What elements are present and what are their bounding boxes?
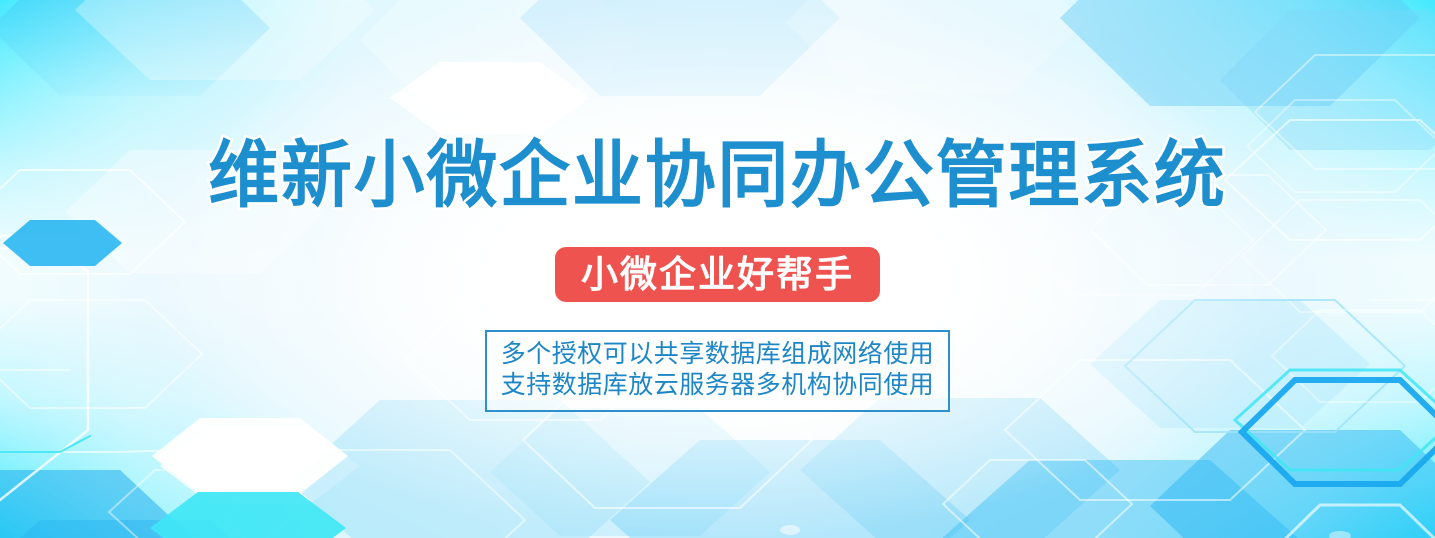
- slogan-badge: 小微企业好帮手: [555, 247, 880, 302]
- feature-line-1: 多个授权可以共享数据库组成网络使用: [501, 339, 935, 370]
- slogan-badge-container: 小微企业好帮手: [0, 247, 1435, 302]
- banner-content: 维新小微企业协同办公管理系统 小微企业好帮手 多个授权可以共享数据库组成网络使用…: [0, 0, 1435, 538]
- feature-box-container: 多个授权可以共享数据库组成网络使用 支持数据库放云服务器多机构协同使用: [0, 330, 1435, 412]
- page-title: 维新小微企业协同办公管理系统: [22, 138, 1414, 214]
- feature-line-2: 支持数据库放云服务器多机构协同使用: [501, 370, 935, 401]
- feature-description-box: 多个授权可以共享数据库组成网络使用 支持数据库放云服务器多机构协同使用: [485, 330, 951, 412]
- promo-banner: 维新小微企业协同办公管理系统 小微企业好帮手 多个授权可以共享数据库组成网络使用…: [0, 0, 1435, 538]
